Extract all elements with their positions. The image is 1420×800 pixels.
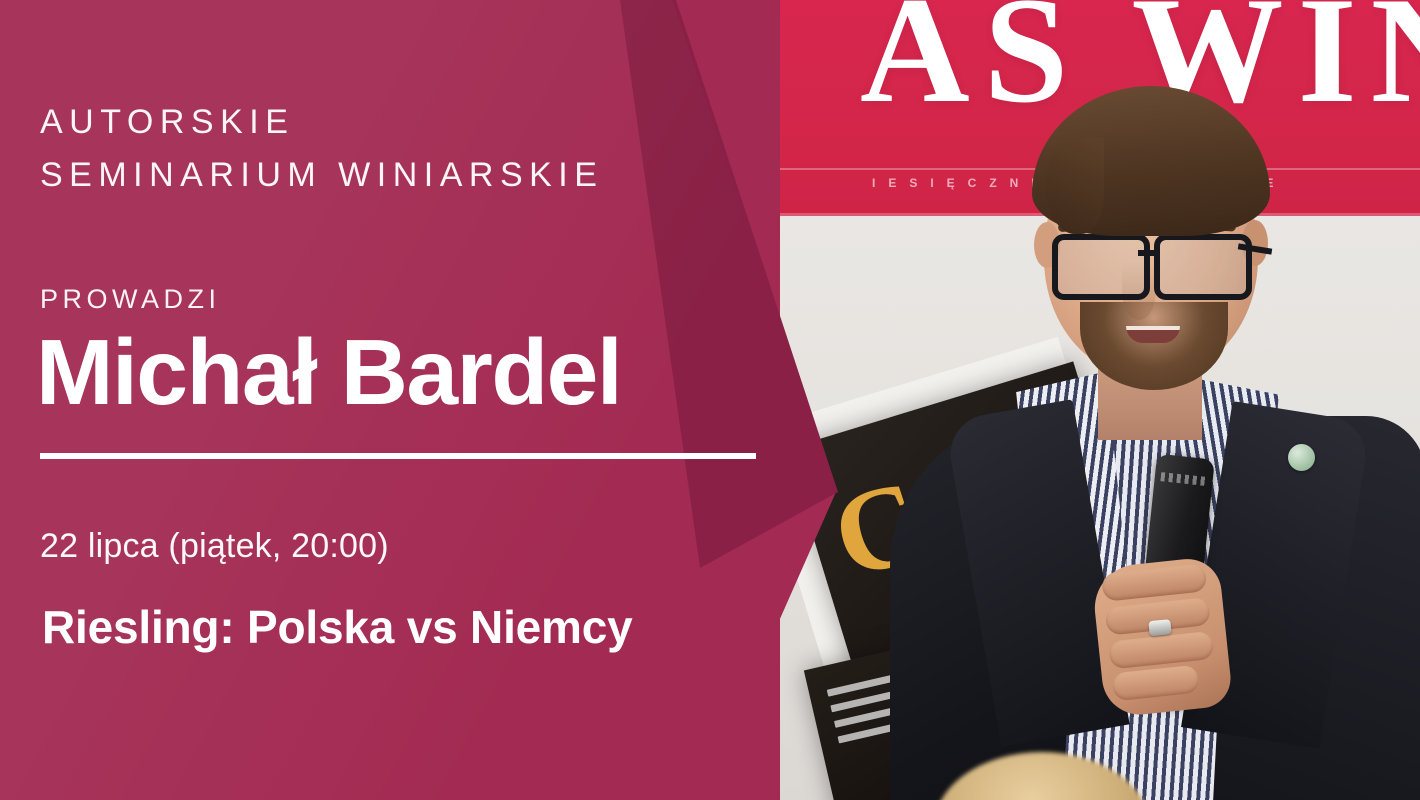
hair (1032, 86, 1270, 236)
speaker-figure (876, 64, 1406, 800)
kicker-line-2: SEMINARIUM WINIARSKIE (40, 149, 603, 202)
glasses-lens-left (1052, 234, 1150, 300)
hand-holding-microphone (1091, 556, 1234, 719)
event-kicker: AUTORSKIE SEMINARIUM WINIARSKIE (40, 96, 603, 201)
event-title: Riesling: Polska vs Niemcy (42, 600, 633, 654)
divider-rule (40, 453, 756, 459)
glasses-lens-right (1154, 234, 1252, 300)
wedding-ring (1148, 619, 1171, 636)
lapel-pin-icon (1288, 444, 1315, 471)
poster-banner: AS WINA IESIĘCZNI KI W POLSCE CZA (0, 0, 1420, 800)
mouth (1126, 326, 1180, 343)
host-label: PROWADZI (40, 284, 221, 315)
event-date: 22 lipca (piątek, 20:00) (40, 527, 389, 566)
host-name: Michał Bardel (36, 326, 621, 419)
glasses-bridge (1138, 250, 1156, 256)
speaker-photo: AS WINA IESIĘCZNI KI W POLSCE CZA (780, 0, 1420, 800)
kicker-line-1: AUTORSKIE (40, 96, 603, 149)
poster-text: AUTORSKIE SEMINARIUM WINIARSKIE PROWADZI… (0, 0, 820, 800)
